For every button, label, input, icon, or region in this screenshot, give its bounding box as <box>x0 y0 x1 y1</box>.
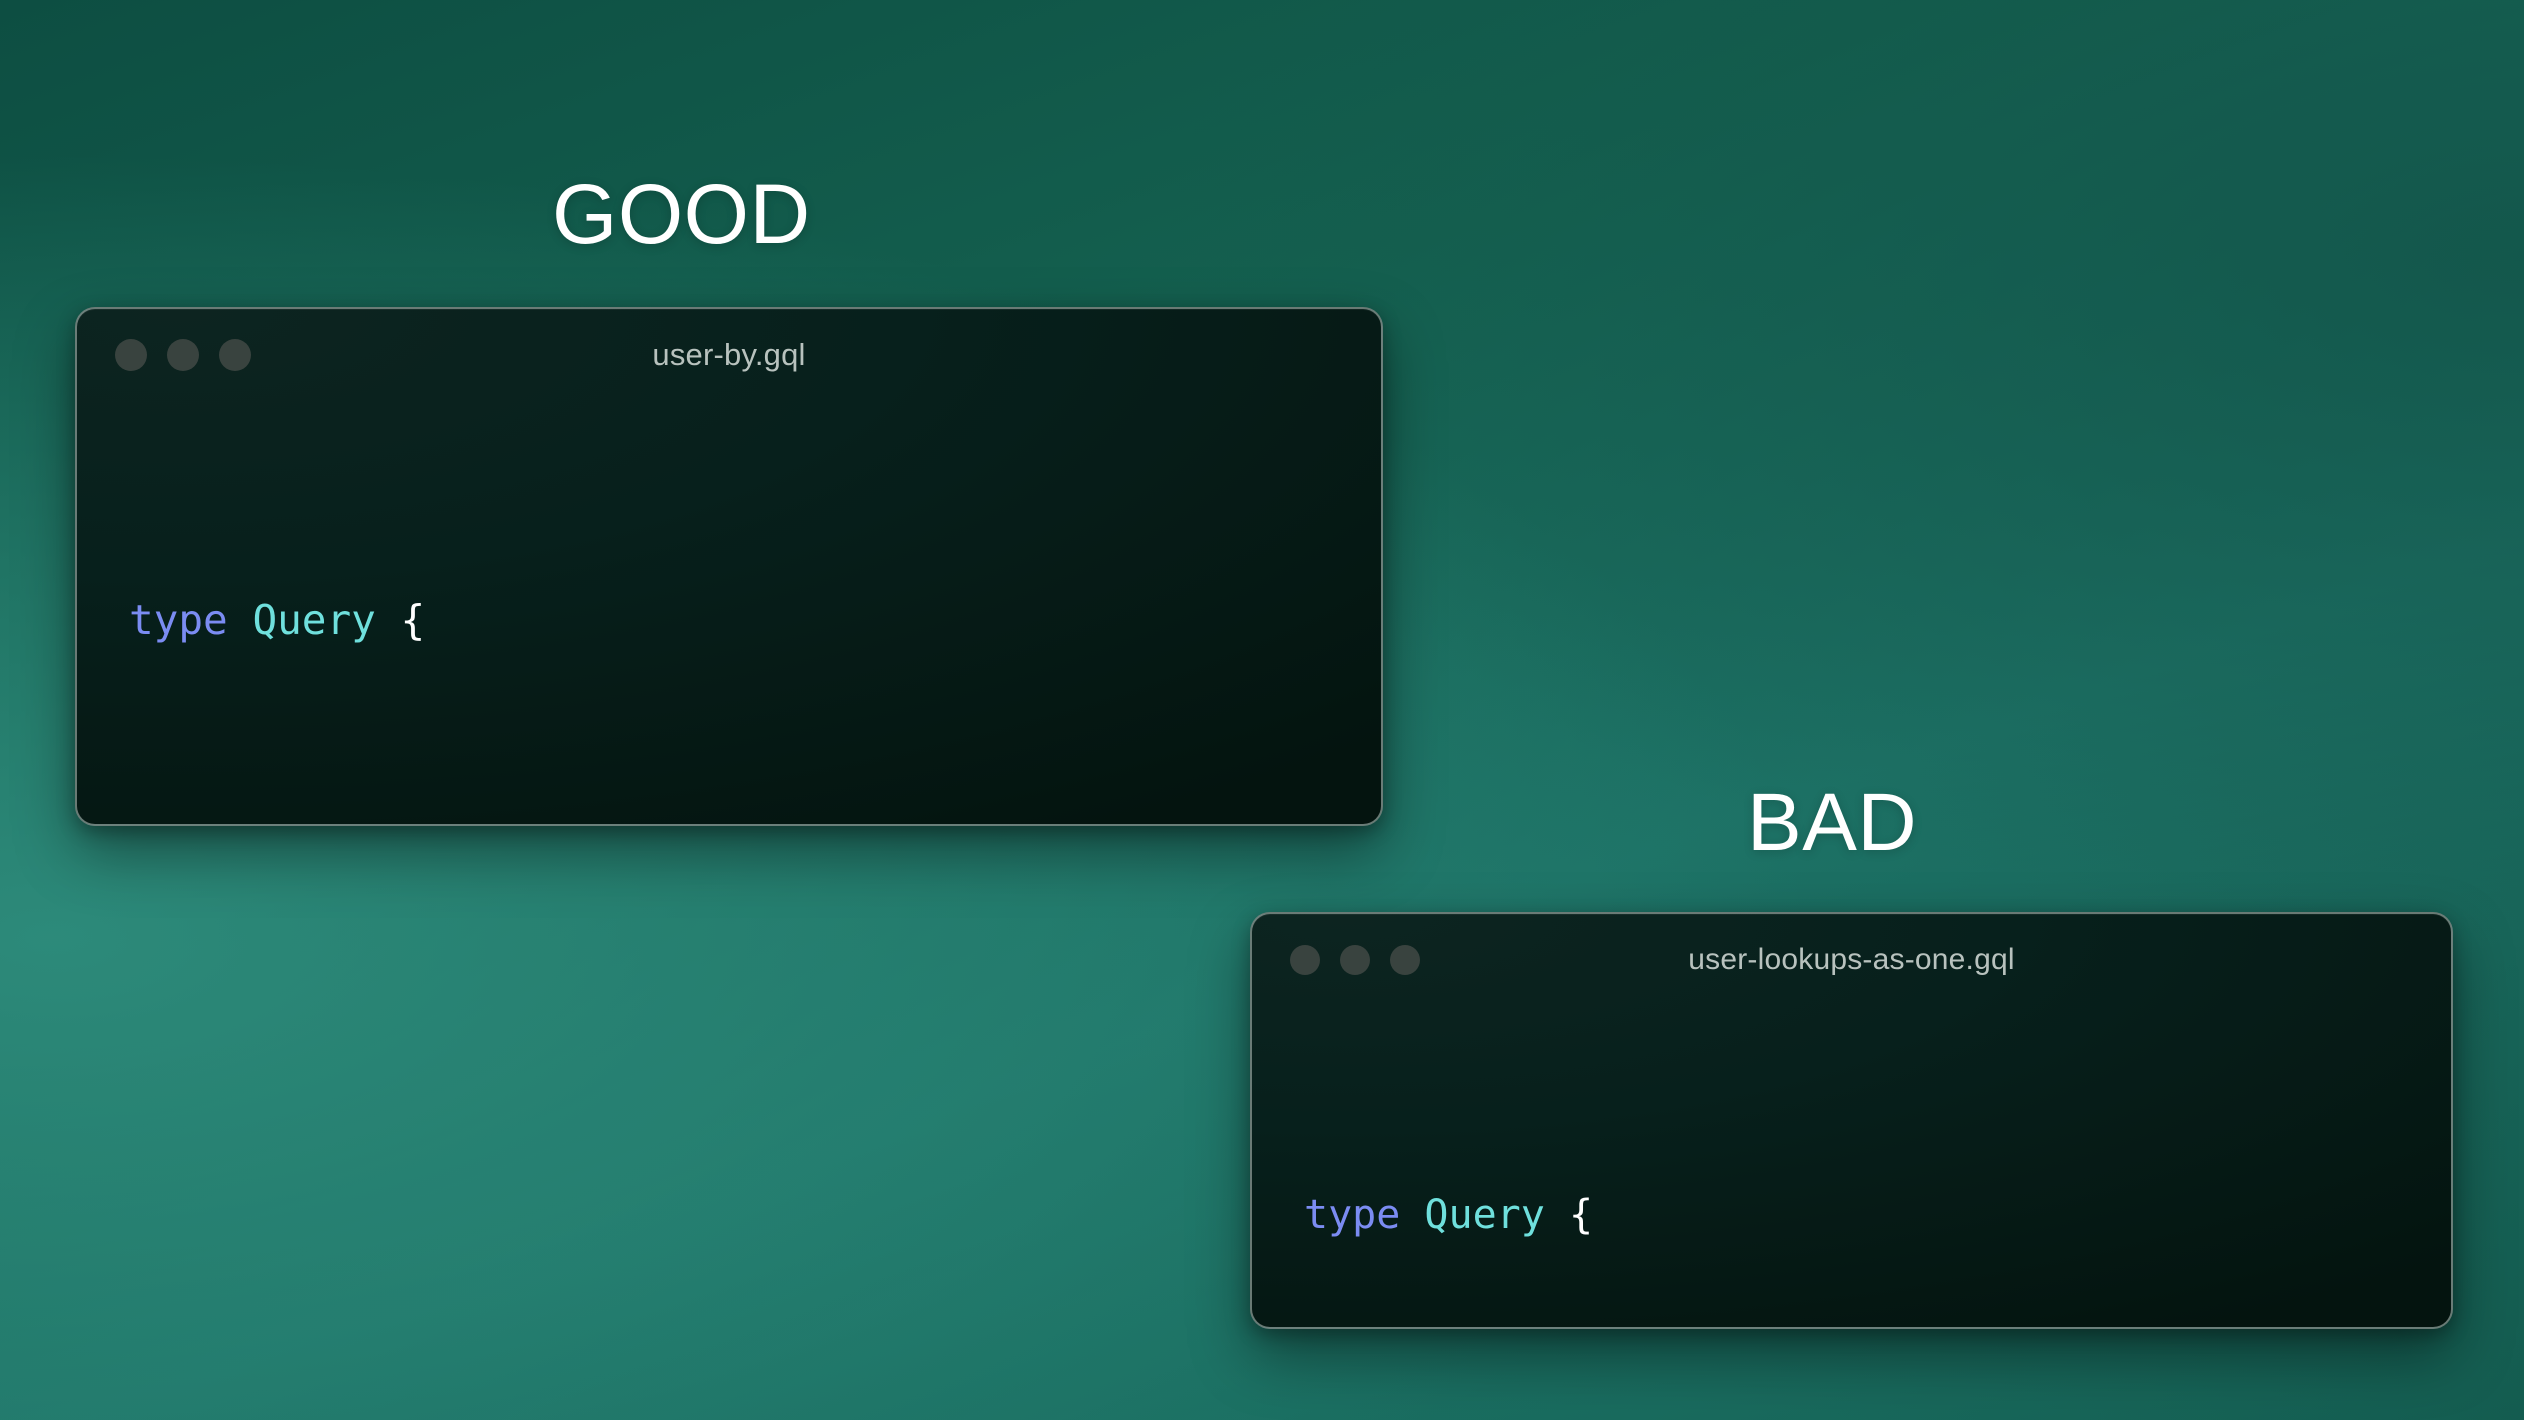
token-space <box>1545 1192 1569 1238</box>
maximize-dot-icon[interactable] <box>1390 945 1420 975</box>
token-type-name: Query <box>1424 1192 1544 1238</box>
code-line: type Query { <box>1304 1180 2451 1250</box>
verdict-label-bad: BAD <box>1747 782 1917 864</box>
code-line: type Query { <box>129 583 1381 657</box>
titlebar-bad: user-lookups-as-one.gql <box>1252 914 2451 1006</box>
token-space <box>1400 1192 1424 1238</box>
code-window-good[interactable]: user-by.gql type Query { userById(id: ID… <box>75 307 1383 826</box>
traffic-lights-good <box>115 339 251 371</box>
token-space <box>376 596 401 644</box>
maximize-dot-icon[interactable] <box>219 339 251 371</box>
window-title-good: user-by.gql <box>77 337 1381 373</box>
token-space <box>228 596 253 644</box>
close-dot-icon[interactable] <box>115 339 147 371</box>
window-title-bad: user-lookups-as-one.gql <box>1252 943 2451 977</box>
token-keyword: type <box>1304 1192 1400 1238</box>
token-brace: { <box>401 596 426 644</box>
token-keyword: type <box>129 596 228 644</box>
comparison-stage: GOOD user-by.gql type Query { userById(i… <box>0 0 2524 1420</box>
token-type-name: Query <box>252 596 375 644</box>
minimize-dot-icon[interactable] <box>167 339 199 371</box>
minimize-dot-icon[interactable] <box>1340 945 1370 975</box>
code-block-good: type Query { userById(id: ID!): User use… <box>77 401 1381 826</box>
close-dot-icon[interactable] <box>1290 945 1320 975</box>
verdict-label-good: GOOD <box>552 172 811 256</box>
code-window-bad[interactable]: user-lookups-as-one.gql type Query { use… <box>1250 912 2453 1329</box>
code-block-bad: type Query { user(id: ID, ssn: String): … <box>1252 1006 2451 1329</box>
titlebar-good: user-by.gql <box>77 309 1381 401</box>
token-brace: { <box>1569 1192 1593 1238</box>
traffic-lights-bad <box>1290 945 1420 975</box>
